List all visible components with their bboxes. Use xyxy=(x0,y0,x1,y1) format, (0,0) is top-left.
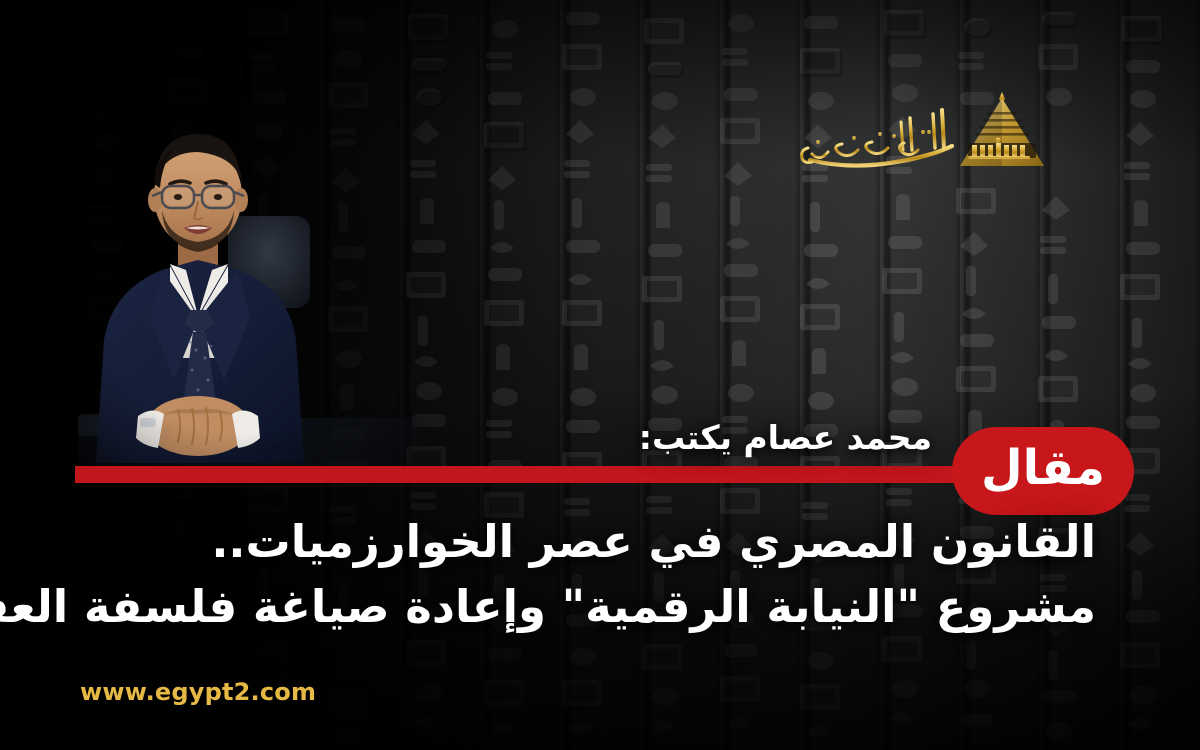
pyramid-emblem-icon xyxy=(960,92,1044,166)
headline: القانون المصري في عصر الخوارزميات.. مشرو… xyxy=(96,510,1096,640)
byline: محمد عصام يكتب: xyxy=(639,418,932,457)
article-badge-label: مقال xyxy=(981,444,1105,498)
headline-line-2: مشروع "النيابة الرقمية" وإعادة صياغة فلس… xyxy=(96,575,1096,640)
presenter-photo xyxy=(78,118,418,483)
headline-line-1: القانون المصري في عصر الخوارزميات.. xyxy=(96,510,1096,575)
website-url[interactable]: www.egypt2.com xyxy=(80,678,316,706)
brand-logo xyxy=(792,88,1060,186)
article-card: محمد عصام يكتب: مقال القانون المصري في ع… xyxy=(0,0,1200,750)
article-badge[interactable]: مقال xyxy=(952,427,1134,515)
logo-wordmark xyxy=(802,110,952,166)
red-divider xyxy=(75,466,1027,483)
